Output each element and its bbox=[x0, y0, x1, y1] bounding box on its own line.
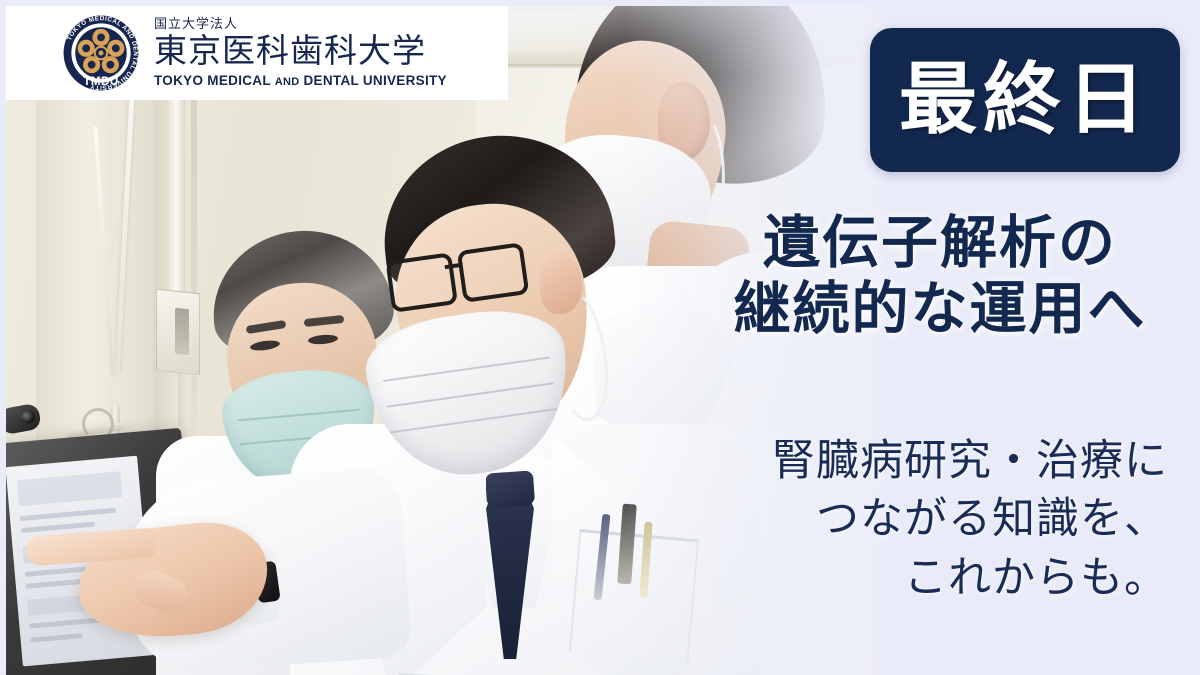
tmdu-seal-icon: TOKYO MEDICAL AND DENTAL UNIVERSITY TMDU bbox=[62, 14, 140, 92]
university-logo-banner: TOKYO MEDICAL AND DENTAL UNIVERSITY TMDU… bbox=[6, 6, 508, 100]
headline-line-1: 遺伝子解析の bbox=[690, 210, 1190, 276]
logo-english: TOKYO MEDICAL AND DENTAL UNIVERSITY bbox=[154, 73, 447, 88]
logo-main-japanese: 東京医科歯科大学 bbox=[154, 32, 447, 70]
logo-en-and: AND bbox=[275, 76, 300, 88]
svg-text:TMDU: TMDU bbox=[83, 75, 118, 88]
necktie-knot bbox=[485, 470, 535, 507]
logo-wordmark: 国立大学法人 東京医科歯科大学 TOKYO MEDICAL AND DENTAL… bbox=[154, 18, 447, 88]
promo-banner: DELL bbox=[0, 0, 1200, 675]
final-day-badge: 最終日 bbox=[870, 28, 1180, 172]
logo-en-part2: DENTAL UNIVERSITY bbox=[299, 73, 446, 88]
logo-sub-japanese: 国立大学法人 bbox=[154, 18, 447, 32]
subtitle-line-2: つながる知識を、 bbox=[690, 490, 1168, 548]
subtitle: 腎臓病研究・治療に つながる知識を、 これからも。 bbox=[690, 432, 1190, 607]
headline: 遺伝子解析の 継続的な運用へ bbox=[690, 210, 1190, 342]
subtitle-line-3: これからも。 bbox=[690, 549, 1168, 607]
final-day-badge-label: 最終日 bbox=[899, 61, 1151, 139]
coat-breast-pocket bbox=[569, 529, 699, 662]
subtitle-line-1: 腎臓病研究・治療に bbox=[690, 432, 1168, 490]
logo-en-part1: TOKYO MEDICAL bbox=[154, 73, 275, 88]
headline-line-2: 継続的な運用へ bbox=[690, 276, 1190, 342]
